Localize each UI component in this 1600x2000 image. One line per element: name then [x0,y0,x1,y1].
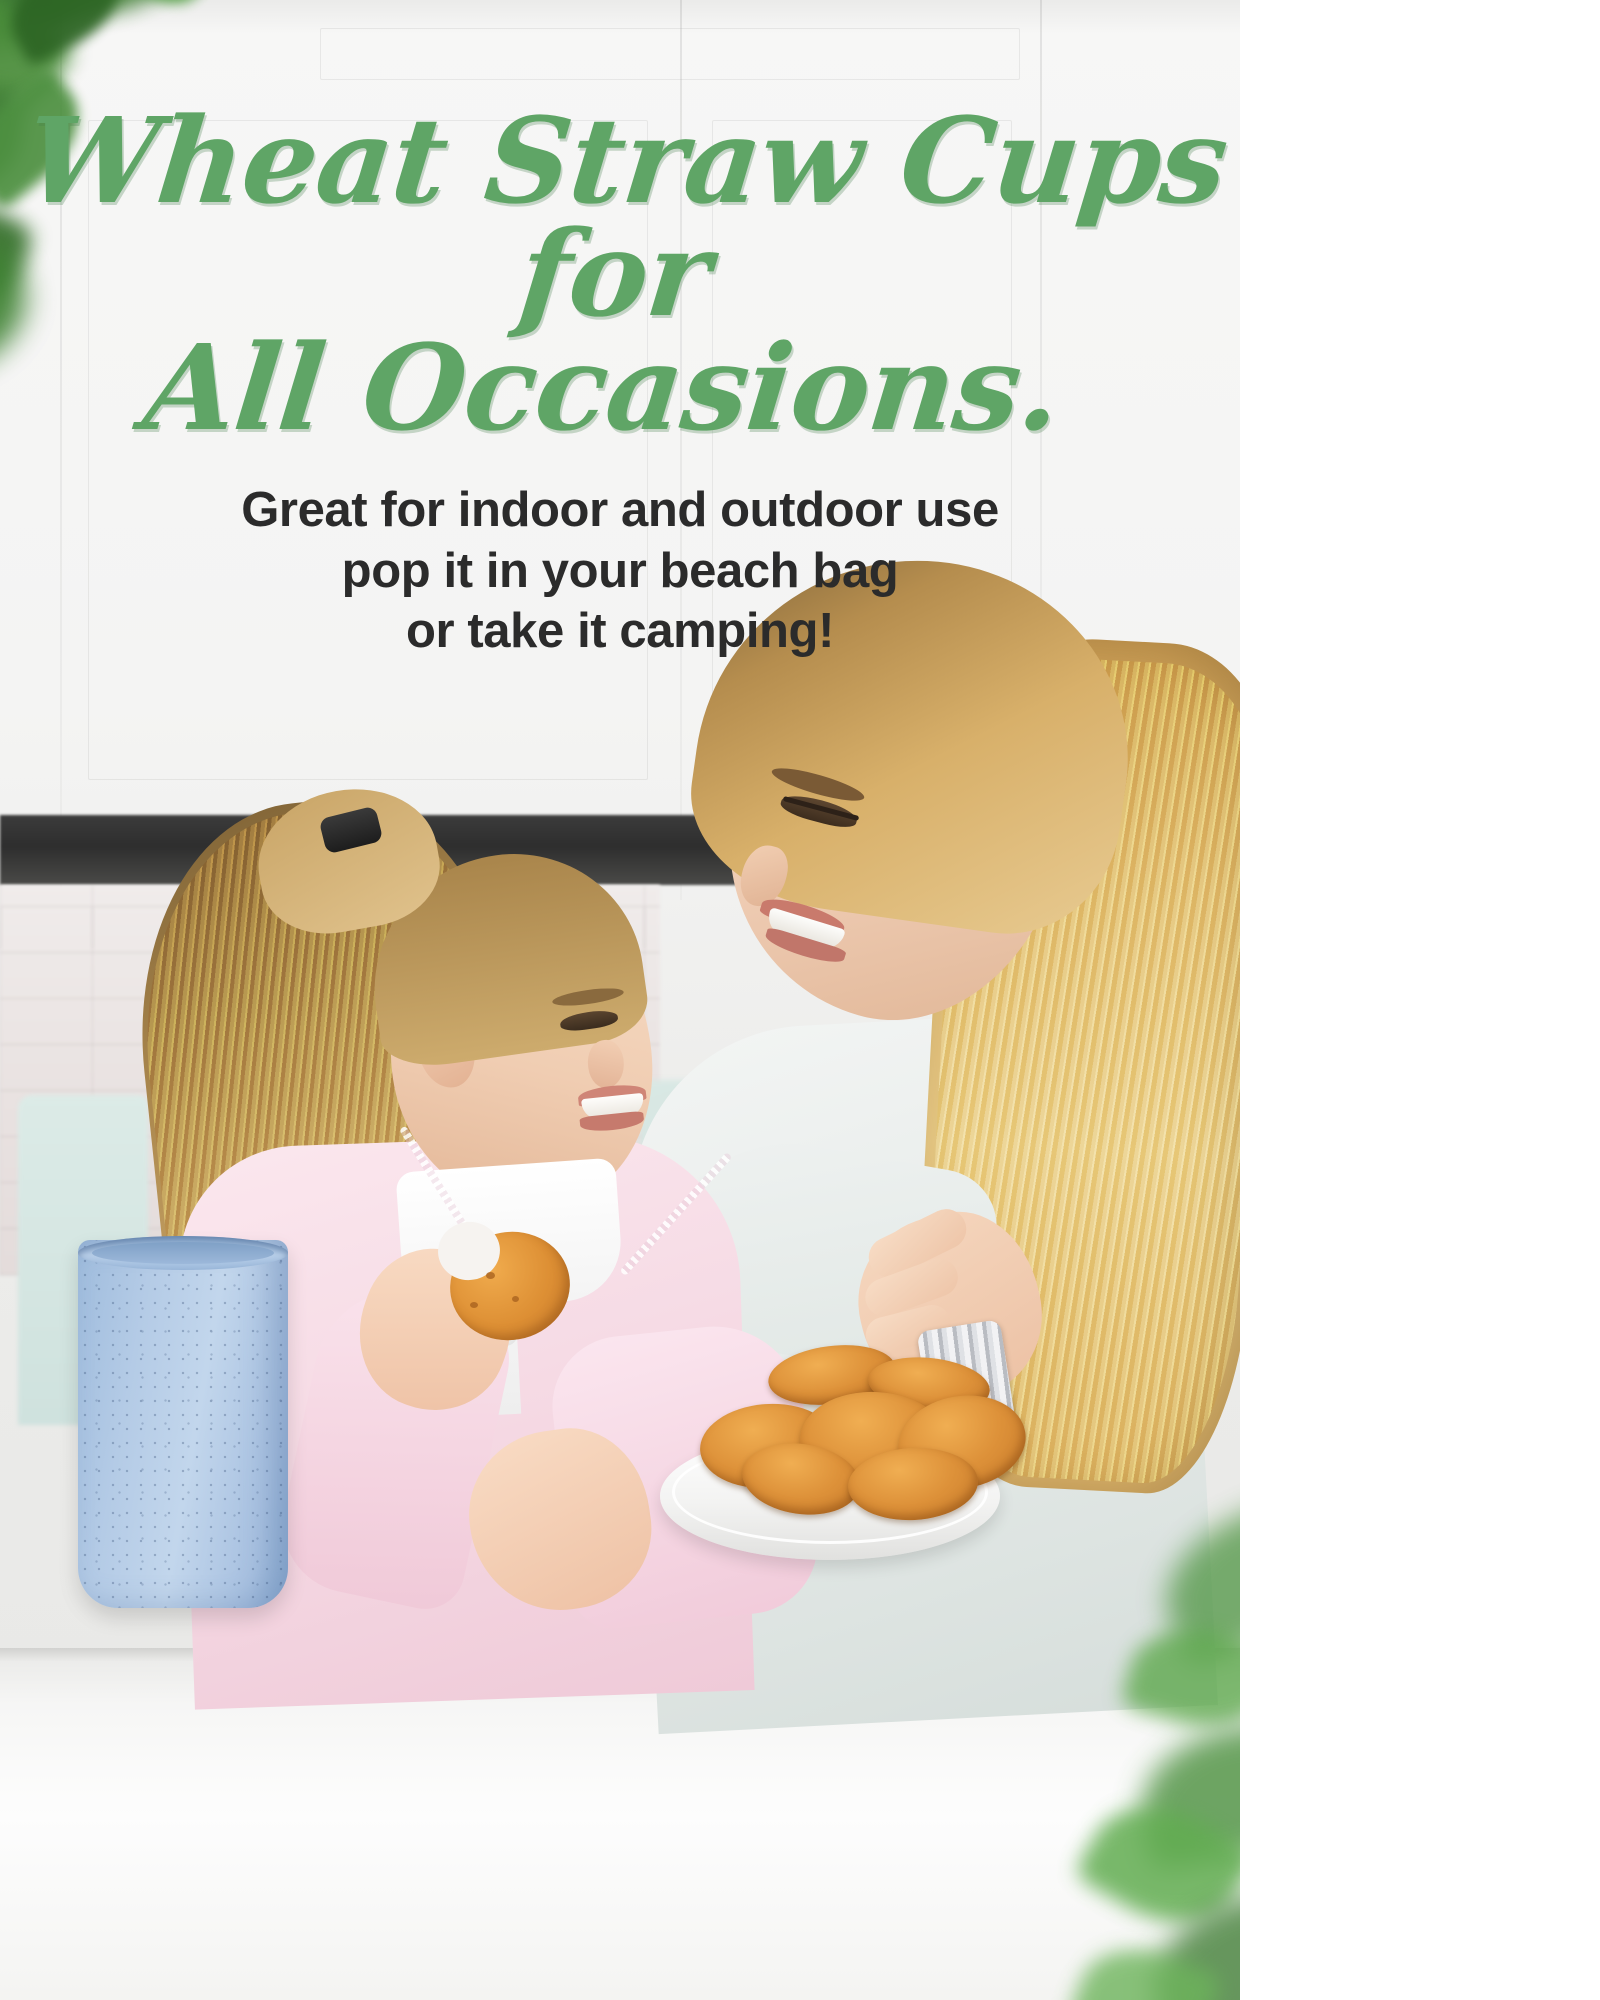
page-title: Wheat Straw Cups for All Occasions. [0,0,1240,444]
subheading-line-1: Great for indoor and outdoor use [0,480,1240,541]
cup-inner-well [92,1242,274,1264]
headline-line-2: All Occasions. [0,331,1229,444]
subheading-line-3: or take it camping! [0,601,1240,662]
cookie-crumb-3 [470,1302,478,1308]
foliage-bottom-right [980,1480,1240,2000]
cookie-crumb-2 [512,1296,519,1302]
cup-speckle-texture [78,1240,288,1608]
cookie-crumb-1 [486,1272,495,1279]
poster-canvas: Wheat Straw Cups for All Occasions. Grea… [0,0,1240,2000]
poster-text-block: Wheat Straw Cups for All Occasions. Grea… [0,0,1240,662]
subheading: Great for indoor and outdoor use pop it … [0,480,1240,662]
subheading-line-2: pop it in your beach bag [0,541,1240,602]
headline-line-1: Wheat Straw Cups for [0,104,1240,331]
